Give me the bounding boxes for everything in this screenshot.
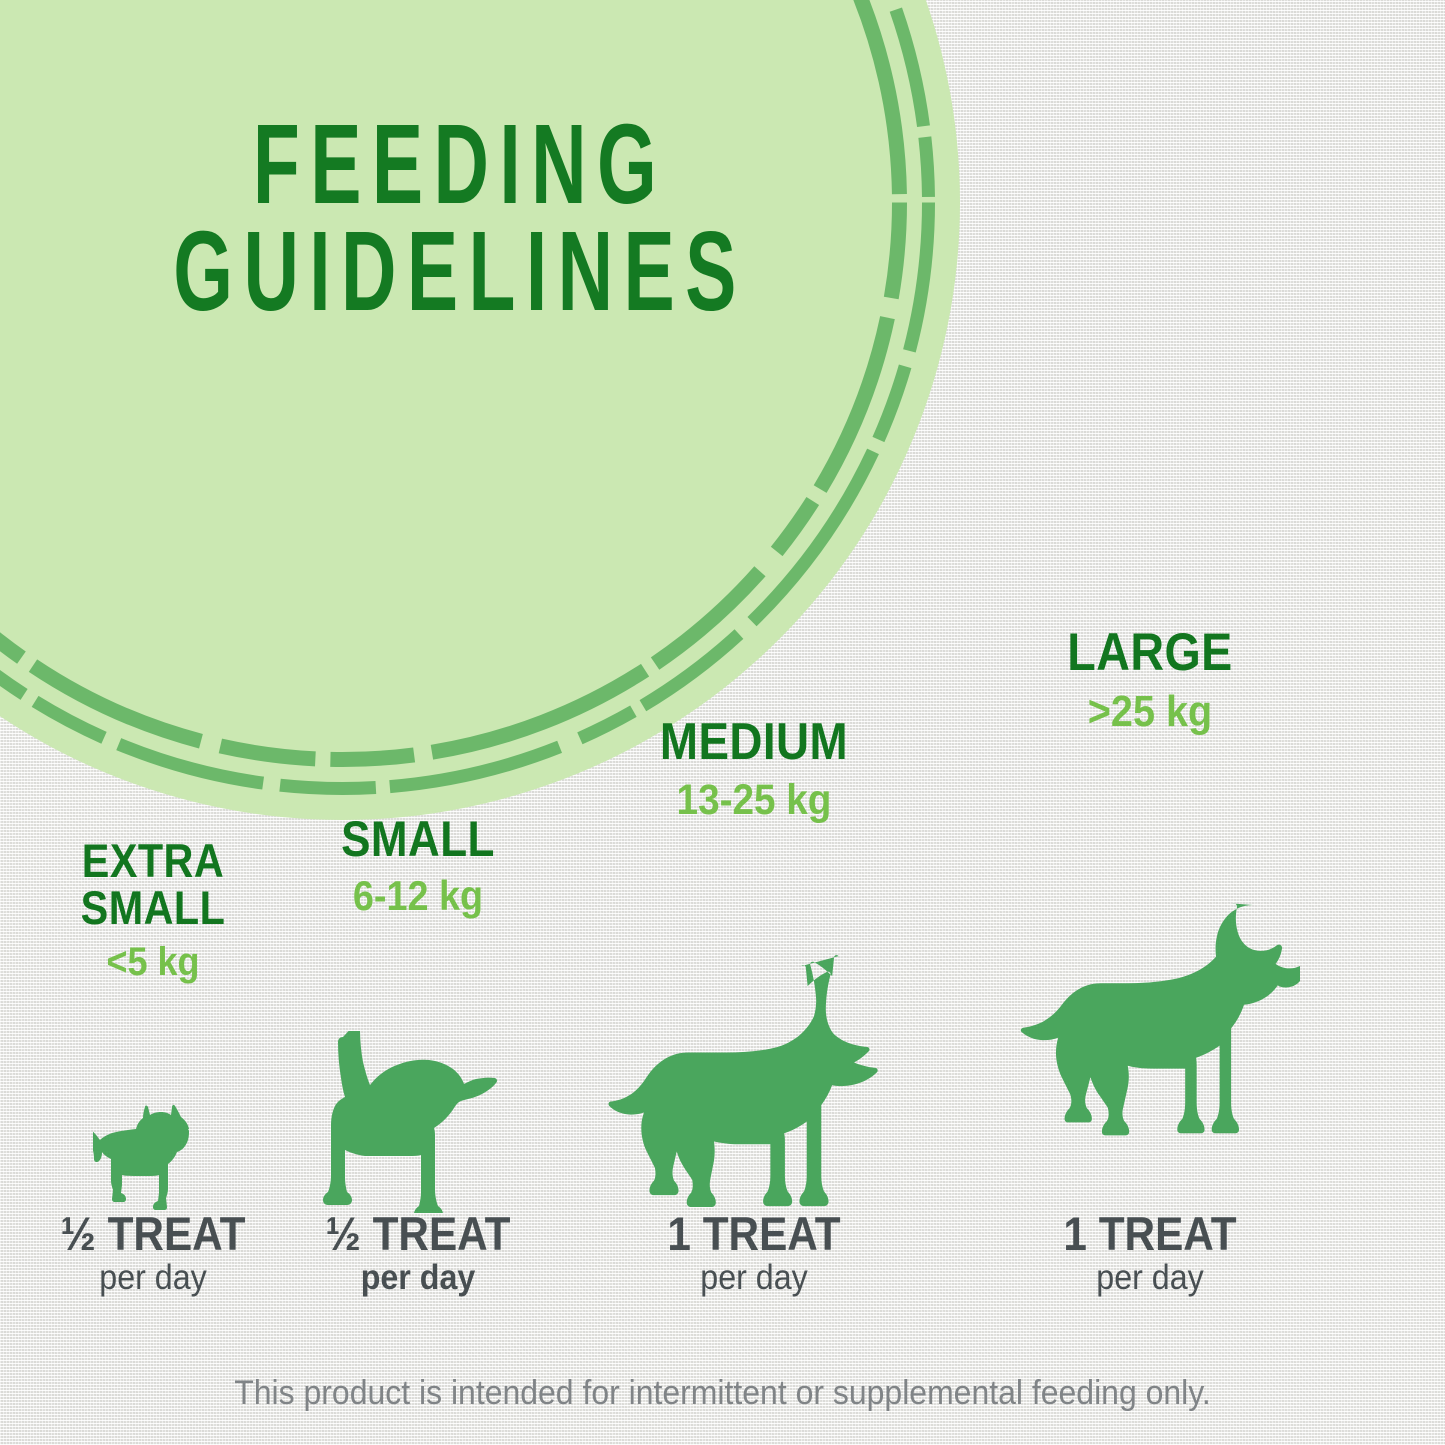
- size-name-line1-extra-small: EXTRA: [21, 837, 285, 884]
- size-name-line1-large: LARGE: [1018, 626, 1282, 679]
- title-line-1: FEEDING: [92, 112, 828, 217]
- feed-period-small: per day: [280, 1260, 556, 1297]
- dog-silhouette-medium: [604, 941, 904, 1213]
- dog-silhouette-large: [1000, 851, 1300, 1213]
- terrier-silhouette-icon: [312, 1031, 524, 1213]
- title-line-2: GUIDELINES: [92, 219, 828, 324]
- feed-period-large: per day: [1012, 1260, 1288, 1297]
- size-name-line2-extra-small: SMALL: [21, 884, 285, 931]
- page-title: FEEDING GUIDELINES: [0, 112, 920, 309]
- dog-silhouette-small: [268, 1031, 568, 1213]
- footer-disclaimer: This product is intended for intermitten…: [43, 1374, 1401, 1413]
- size-label-group-medium: MEDIUM 13-25 kg: [604, 716, 904, 823]
- dog-silhouette-extra-small: [3, 1093, 303, 1213]
- size-label-group-extra-small: EXTRA SMALL <5 kg: [3, 837, 303, 983]
- feed-amount-small: ½ TREAT: [283, 1209, 553, 1258]
- size-name-line1-small: SMALL: [286, 814, 550, 864]
- feed-period-extra-small: per day: [15, 1260, 291, 1297]
- feed-block-large: 1 TREAT per day: [1000, 1209, 1300, 1297]
- feed-block-extra-small: ½ TREAT per day: [3, 1209, 303, 1297]
- shepherd-silhouette-icon: [604, 941, 904, 1213]
- size-weight-medium: 13-25 kg: [619, 778, 889, 823]
- feeding-guidelines-infographic: FEEDING GUIDELINES EXTRA SMALL <5 kg ½ T…: [0, 0, 1445, 1445]
- pointer-silhouette-icon: [1000, 851, 1300, 1213]
- feed-amount-extra-small: ½ TREAT: [18, 1209, 288, 1258]
- size-weight-small: 6-12 kg: [283, 874, 553, 918]
- feed-amount-medium: 1 TREAT: [619, 1209, 889, 1258]
- feed-block-medium: 1 TREAT per day: [604, 1209, 904, 1297]
- size-label-group-large: LARGE >25 kg: [1000, 626, 1300, 735]
- size-weight-extra-small: <5 kg: [18, 941, 288, 983]
- feed-period-medium: per day: [616, 1260, 892, 1297]
- size-name-line1-medium: MEDIUM: [622, 716, 886, 768]
- feed-amount-large: 1 TREAT: [1015, 1209, 1285, 1258]
- chihuahua-silhouette-icon: [93, 1093, 213, 1213]
- size-weight-large: >25 kg: [1015, 689, 1285, 735]
- size-label-group-small: SMALL 6-12 kg: [268, 814, 568, 918]
- feed-block-small: ½ TREAT per day: [268, 1209, 568, 1297]
